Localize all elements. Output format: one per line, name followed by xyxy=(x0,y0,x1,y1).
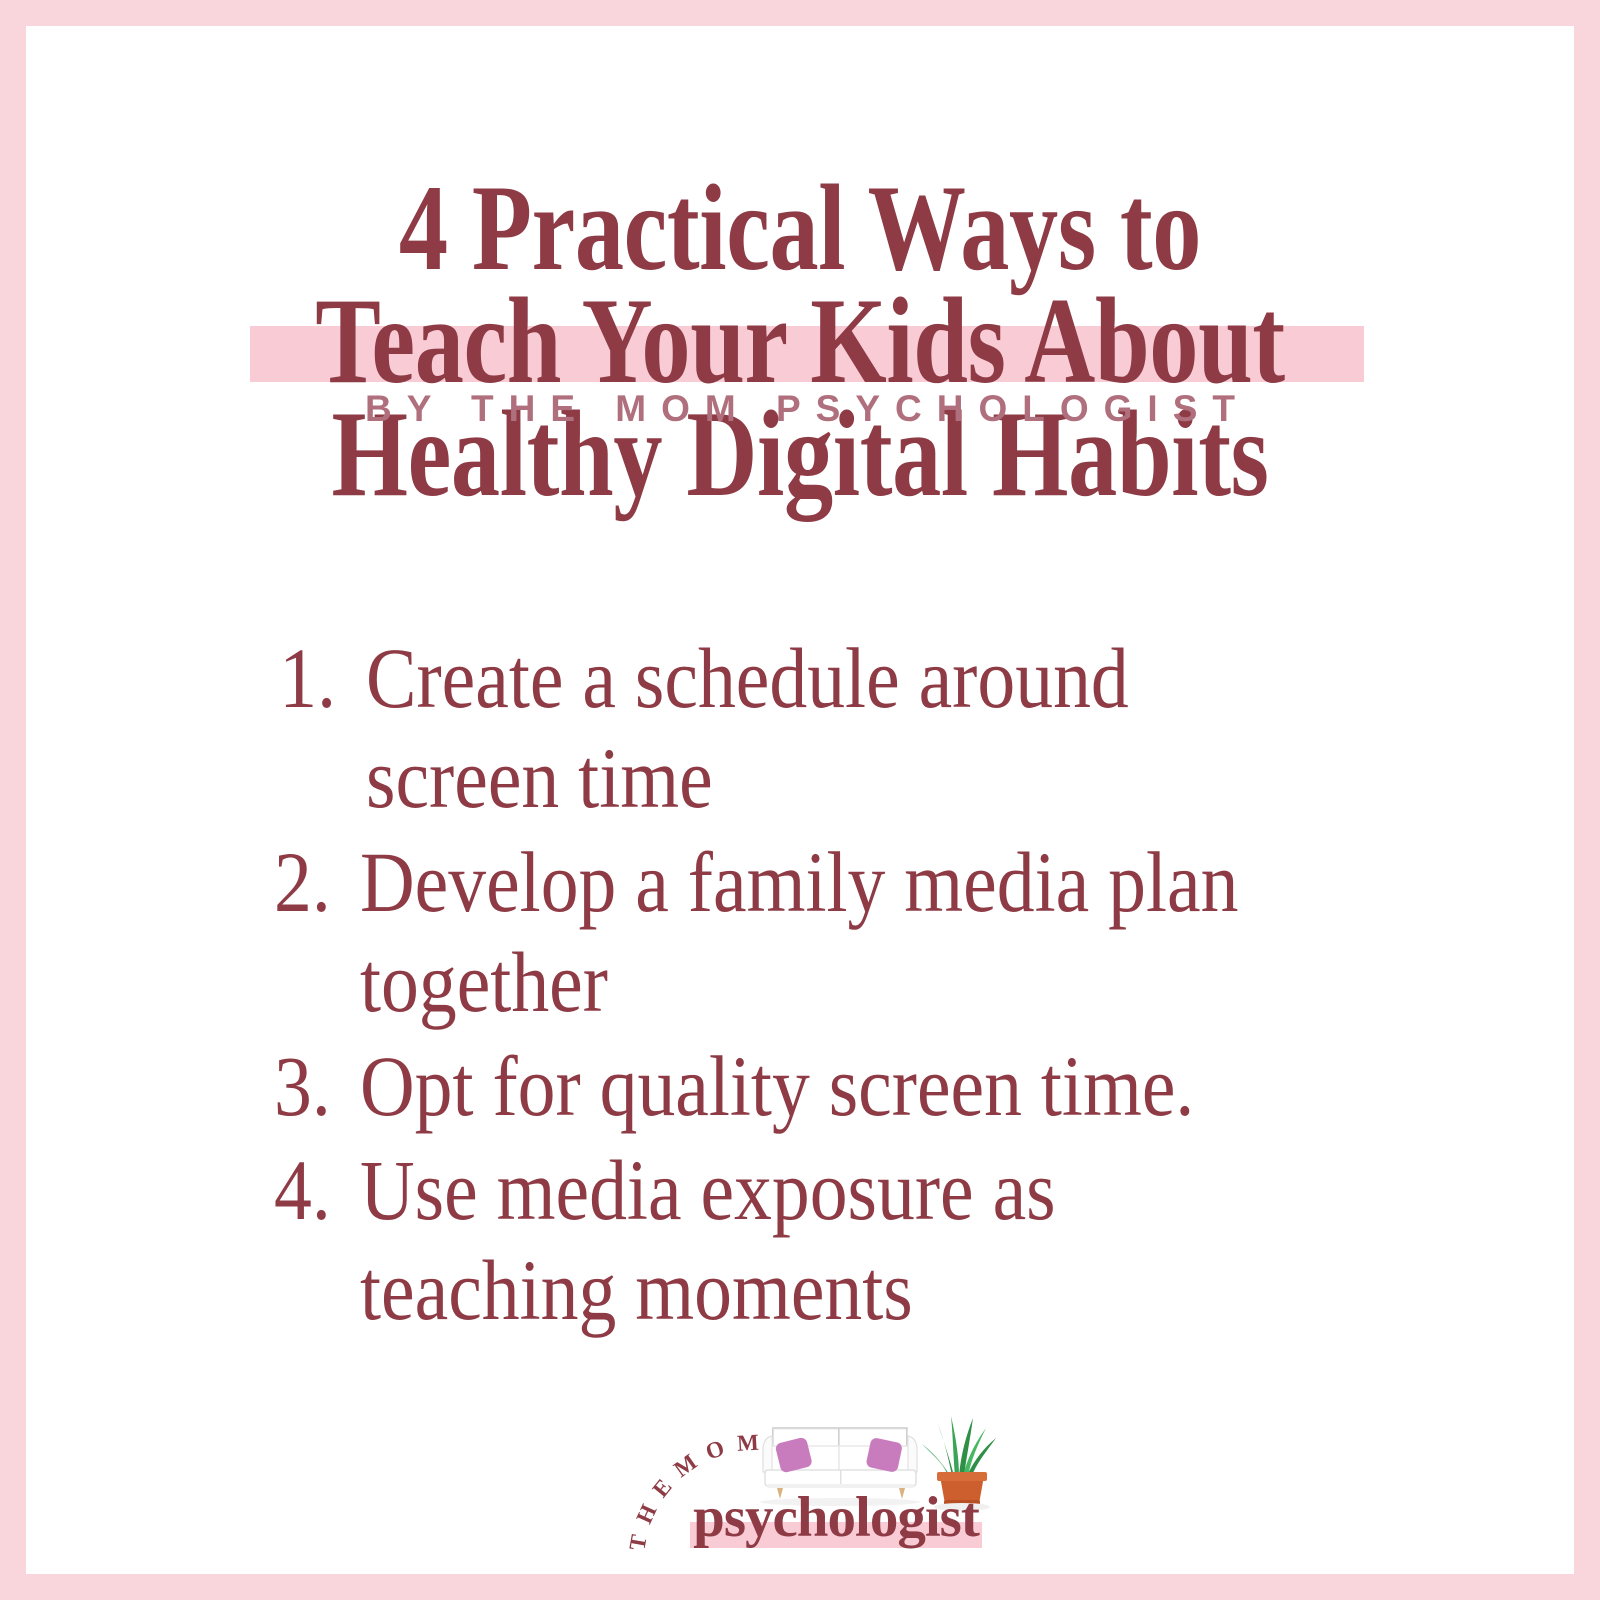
title-line-1: 4 Practical Ways to xyxy=(181,171,1419,284)
page-title: 4 Practical Ways to Teach Your Kids Abou… xyxy=(26,171,1574,510)
list-item-text: Use media exposure as teaching moments xyxy=(360,1140,1323,1340)
list-item-number: 3. xyxy=(274,1036,350,1136)
subtitle-byline: BY THE MOM PSYCHOLOGIST xyxy=(26,388,1574,430)
title-line-2: Teach Your Kids About xyxy=(181,284,1419,397)
poster-canvas: 4 Practical Ways to Teach Your Kids Abou… xyxy=(26,26,1574,1574)
list-item-text: Opt for quality screen time. xyxy=(360,1036,1323,1136)
list-item: 3. Opt for quality screen time. xyxy=(274,1036,1454,1136)
list-item: 2. Develop a family media plan together xyxy=(274,832,1454,1032)
tips-list: 1. Create a schedule around screen time … xyxy=(274,628,1454,1344)
list-item-text: Create a schedule around screen time xyxy=(366,628,1323,828)
list-item: 4. Use media exposure as teaching moment… xyxy=(274,1140,1454,1340)
list-item-text: Develop a family media plan together xyxy=(360,832,1323,1032)
list-item-number: 4. xyxy=(274,1140,350,1240)
list-item-number: 2. xyxy=(274,832,350,932)
logo-wordmark: psychologist xyxy=(686,1489,986,1546)
list-item-number: 1. xyxy=(274,628,355,728)
brand-logo: T H E M O M xyxy=(622,1384,1022,1574)
list-item: 1. Create a schedule around screen time xyxy=(274,628,1454,828)
poster-frame: 4 Practical Ways to Teach Your Kids Abou… xyxy=(0,0,1600,1600)
